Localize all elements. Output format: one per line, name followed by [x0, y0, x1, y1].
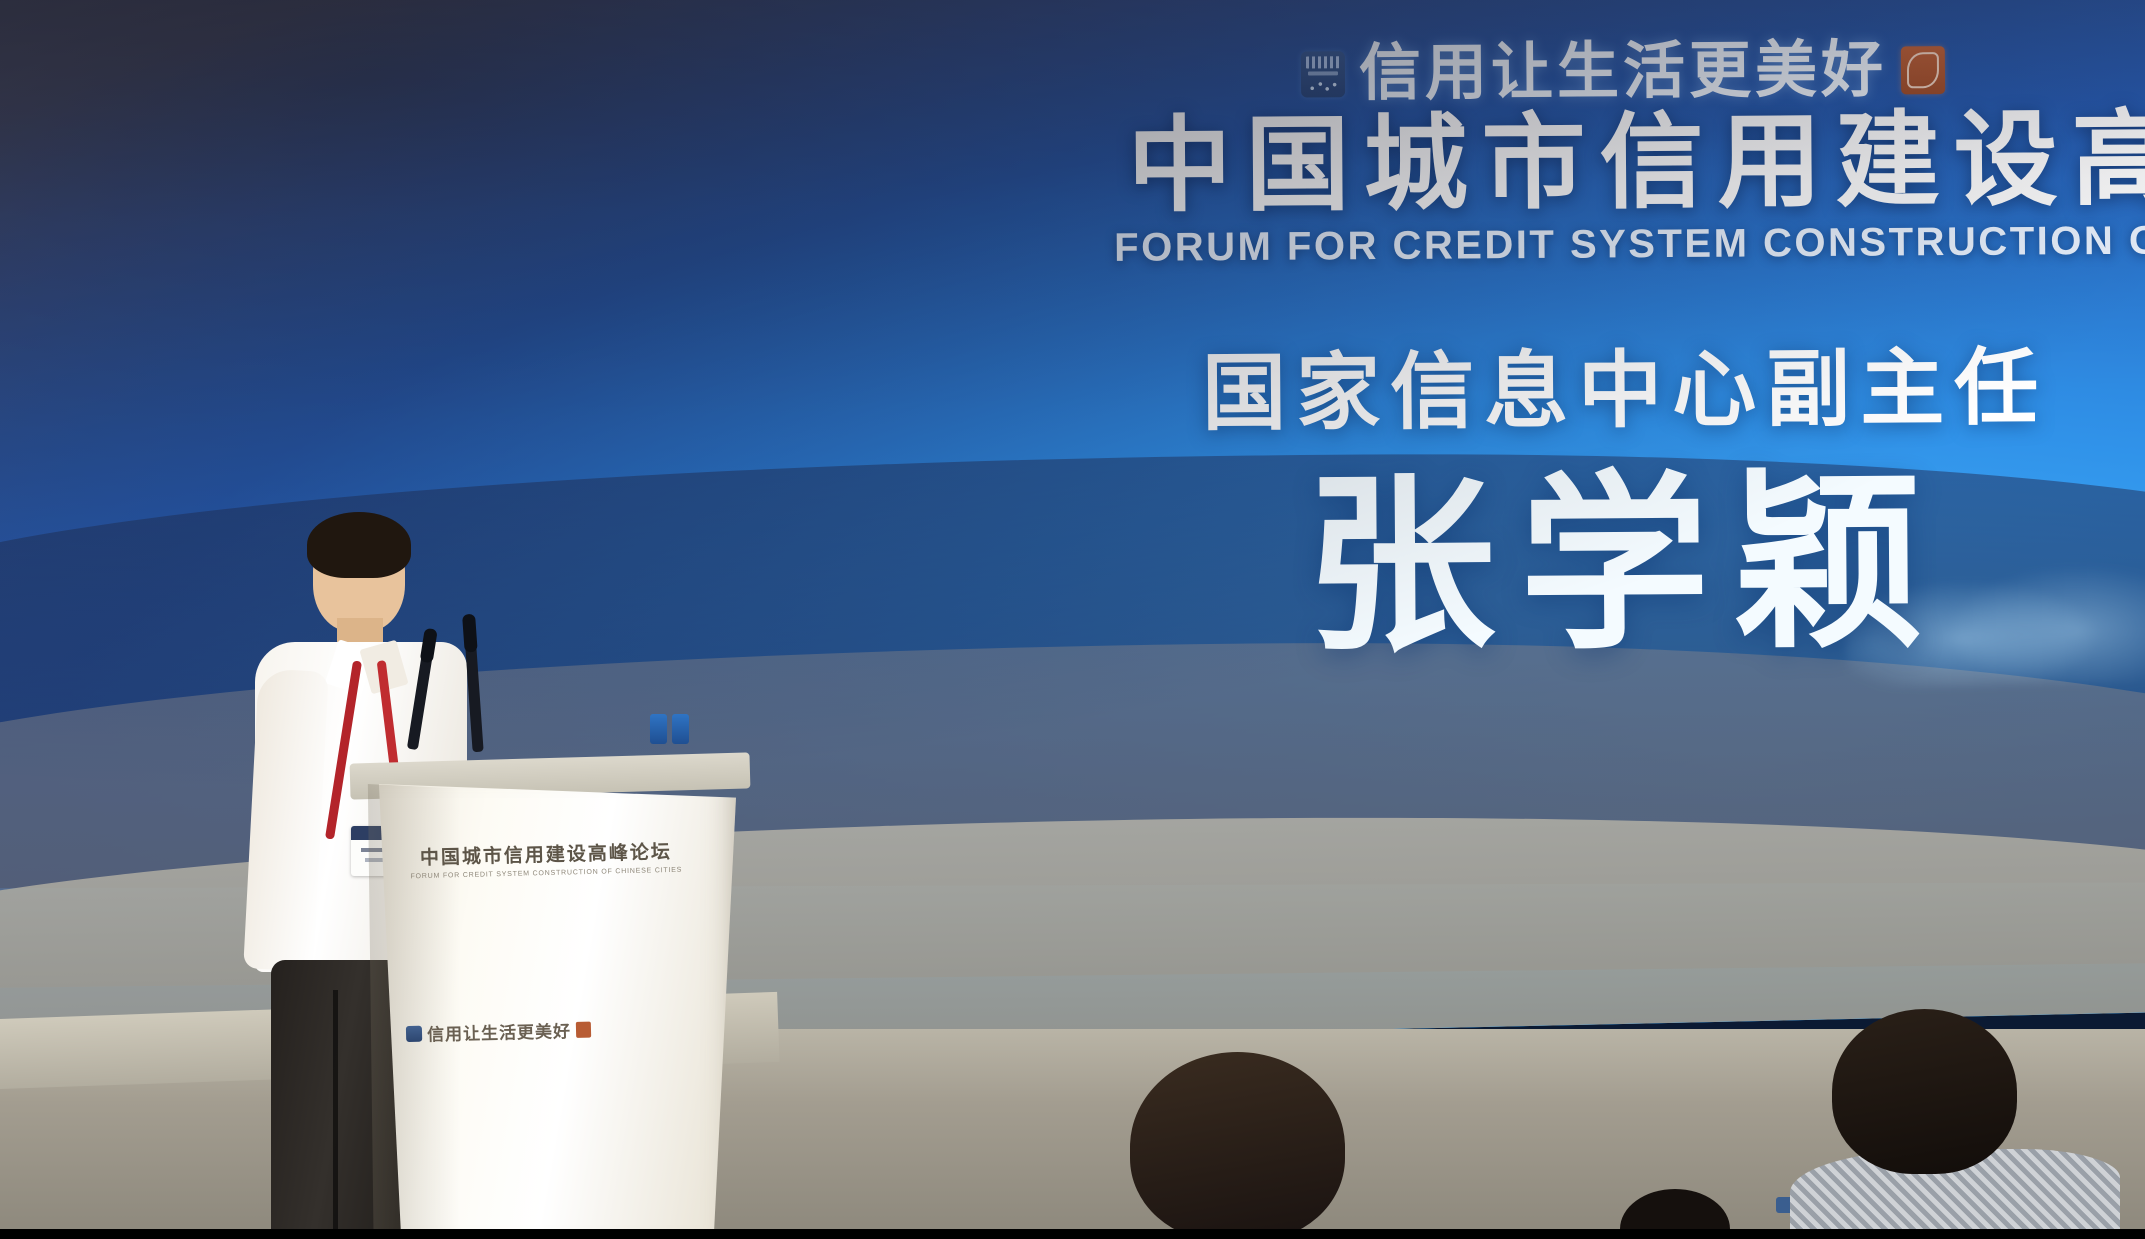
- conference-photo-scene: 信用让生活更美好 中国城市信用建设高峰论坛 FORUM FOR CREDIT S…: [0, 0, 2145, 1239]
- speaker-hair: [307, 512, 411, 578]
- credit-china-logo-icon: [406, 1025, 422, 1041]
- audience-head-right: [1790, 1009, 2120, 1239]
- podium-title-block: 中国城市信用建设高峰论坛 FORUM FOR CREDIT SYSTEM CON…: [396, 836, 697, 880]
- water-bottle: [650, 714, 667, 744]
- podium: 中国城市信用建设高峰论坛 FORUM FOR CREDIT SYSTEM CON…: [350, 740, 750, 1239]
- orange-seal-icon: [576, 1021, 591, 1037]
- trouser-seam: [333, 990, 338, 1239]
- water-bottle: [672, 714, 689, 744]
- podium-tagline: 信用让生活更美好: [427, 1017, 572, 1046]
- audience-head-left: [1110, 1024, 1380, 1239]
- letterbox-bar: [0, 1229, 2145, 1239]
